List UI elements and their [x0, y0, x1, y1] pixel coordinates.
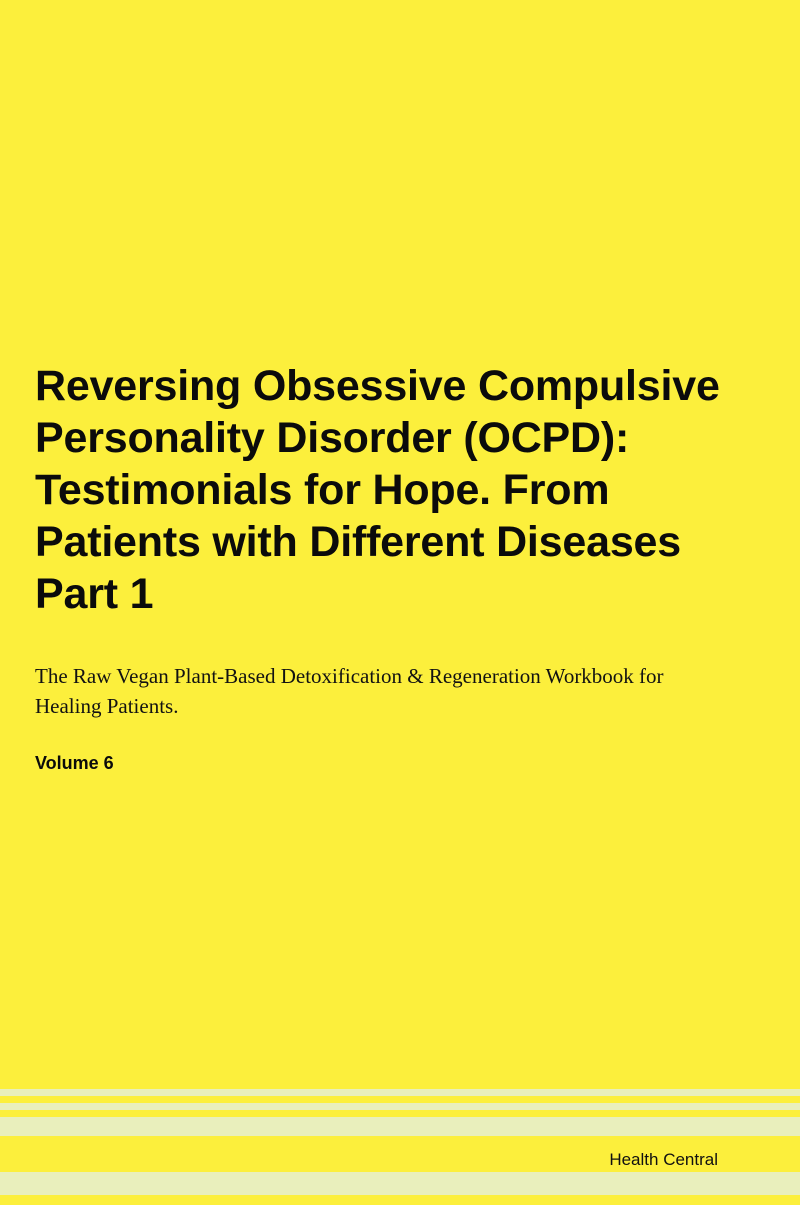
- stripe-2: [0, 1103, 800, 1110]
- volume-label: Volume 6: [35, 752, 114, 774]
- decorative-stripe-band: [0, 1080, 800, 1205]
- stripe-4: [0, 1172, 800, 1195]
- publisher-name: Health Central: [0, 1150, 718, 1170]
- book-cover: Reversing Obsessive Compulsive Personali…: [0, 0, 800, 1205]
- subtitle: The Raw Vegan Plant-Based Detoxification…: [35, 661, 725, 721]
- title-block: Reversing Obsessive Compulsive Personali…: [35, 360, 735, 620]
- page-title: Reversing Obsessive Compulsive Personali…: [35, 360, 735, 620]
- stripe-1: [0, 1089, 800, 1096]
- stripe-3: [0, 1117, 800, 1136]
